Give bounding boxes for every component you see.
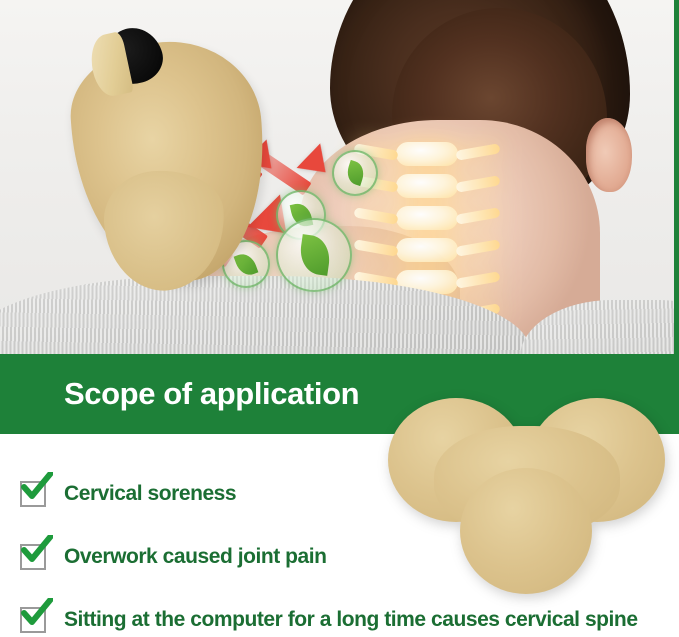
herb-bubble-icon: [276, 218, 352, 292]
list-item-label: Sitting at the computer for a long time …: [64, 608, 638, 632]
photo-right-edge: [674, 0, 679, 354]
check-icon: [21, 535, 53, 565]
checkbox[interactable]: [20, 481, 46, 507]
checkbox[interactable]: [20, 607, 46, 633]
page-title: Scope of application: [64, 376, 359, 412]
product-infographic: Scope of application Cervical soreness O…: [0, 0, 679, 637]
application-checklist: Cervical soreness Overwork caused joint …: [0, 462, 679, 637]
list-item: Cervical soreness: [0, 462, 679, 525]
list-item-label: Overwork caused joint pain: [64, 545, 327, 569]
checkbox[interactable]: [20, 544, 46, 570]
ear: [586, 118, 632, 192]
list-item: Sitting at the computer for a long time …: [0, 588, 679, 637]
herb-bubble-icon: [332, 150, 378, 196]
list-item-label: Cervical soreness: [64, 482, 236, 506]
hero-photo: [0, 0, 679, 354]
list-item: Overwork caused joint pain: [0, 525, 679, 588]
check-icon: [21, 598, 53, 628]
check-icon: [21, 472, 53, 502]
